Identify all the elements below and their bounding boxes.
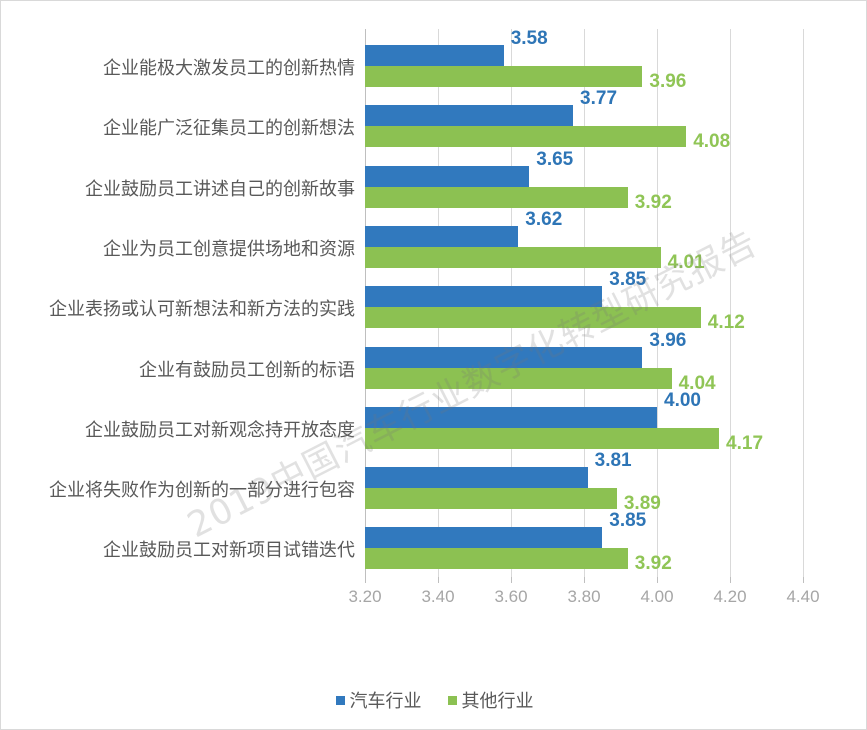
tick-mark	[803, 577, 804, 583]
bar-value-label-auto: 3.85	[609, 510, 646, 532]
bar-auto	[365, 407, 657, 428]
bar-value-label-auto: 4.00	[664, 390, 701, 412]
bar-value-label-other: 3.96	[649, 71, 686, 93]
bar-value-label-auto: 3.65	[536, 149, 573, 171]
legend-swatch-auto-icon	[336, 696, 345, 705]
chart-row: 企业将失败作为创新的一部分进行包容3.813.89	[365, 467, 803, 509]
bar-value-label-other: 4.12	[708, 312, 745, 334]
bar-other	[365, 247, 661, 268]
bar-auto	[365, 527, 602, 548]
chart-row: 企业鼓励员工对新观念持开放态度4.004.17	[365, 407, 803, 449]
tick-mark	[584, 577, 585, 583]
chart-row: 企业鼓励员工讲述自己的创新故事3.653.92	[365, 166, 803, 208]
bar-other	[365, 548, 628, 569]
bar-other	[365, 66, 642, 87]
x-tick-label: 3.20	[330, 587, 400, 607]
tick-mark	[730, 577, 731, 583]
chart-row: 企业有鼓励员工创新的标语3.964.04	[365, 347, 803, 389]
bar-auto	[365, 226, 518, 247]
bar-other	[365, 368, 672, 389]
tick-mark	[657, 577, 658, 583]
bar-auto	[365, 166, 529, 187]
bar-value-label-auto: 3.58	[511, 28, 548, 50]
plot-area: 3.203.403.603.804.004.204.40 企业能极大激发员工的创…	[365, 29, 803, 577]
x-tick-label: 4.40	[768, 587, 838, 607]
category-label: 企业为员工创意提供场地和资源	[0, 235, 365, 261]
tick-mark	[438, 577, 439, 583]
chart-row: 企业能极大激发员工的创新热情3.583.96	[365, 45, 803, 87]
tick-mark	[511, 577, 512, 583]
tick-mark	[365, 577, 366, 583]
category-label: 企业鼓励员工对新观念持开放态度	[0, 416, 365, 442]
bar-auto	[365, 286, 602, 307]
chart-legend: 汽车行业其他行业	[1, 687, 867, 713]
bar-other	[365, 488, 617, 509]
chart-container: 3.203.403.603.804.004.204.40 企业能极大激发员工的创…	[0, 0, 867, 730]
x-tick-label: 4.20	[695, 587, 765, 607]
bar-auto	[365, 45, 504, 66]
category-label: 企业有鼓励员工创新的标语	[0, 356, 365, 382]
bar-other	[365, 126, 686, 147]
category-label: 企业鼓励员工对新项目试错迭代	[0, 536, 365, 562]
bar-value-label-other: 4.17	[726, 433, 763, 455]
legend-item-other[interactable]: 其他行业	[448, 687, 534, 713]
bar-value-label-other: 4.08	[693, 131, 730, 153]
x-tick-label: 3.80	[549, 587, 619, 607]
category-label: 企业表扬或认可新想法和新方法的实践	[0, 295, 365, 321]
gridline	[803, 29, 804, 577]
bar-value-label-auto: 3.77	[580, 88, 617, 110]
category-label: 企业能广泛征集员工的创新想法	[0, 114, 365, 140]
chart-row: 企业表扬或认可新想法和新方法的实践3.854.12	[365, 286, 803, 328]
chart-row: 企业鼓励员工对新项目试错迭代3.853.92	[365, 527, 803, 569]
chart-row: 企业能广泛征集员工的创新想法3.774.08	[365, 105, 803, 147]
bar-value-label-auto: 3.85	[609, 269, 646, 291]
category-label: 企业能极大激发员工的创新热情	[0, 54, 365, 80]
chart-row: 企业为员工创意提供场地和资源3.624.01	[365, 226, 803, 268]
bar-other	[365, 187, 628, 208]
bar-other	[365, 307, 701, 328]
bar-value-label-other: 4.01	[668, 252, 705, 274]
legend-label: 汽车行业	[350, 687, 422, 713]
bar-auto	[365, 467, 588, 488]
x-tick-label: 4.00	[622, 587, 692, 607]
legend-swatch-other-icon	[448, 696, 457, 705]
x-tick-label: 3.40	[403, 587, 473, 607]
category-label: 企业将失败作为创新的一部分进行包容	[0, 476, 365, 502]
bar-auto	[365, 347, 642, 368]
category-label: 企业鼓励员工讲述自己的创新故事	[0, 175, 365, 201]
bar-value-label-other: 3.92	[635, 553, 672, 575]
legend-item-auto[interactable]: 汽车行业	[336, 687, 422, 713]
x-tick-label: 3.60	[476, 587, 546, 607]
bar-value-label-auto: 3.62	[525, 209, 562, 231]
bar-value-label-other: 3.92	[635, 192, 672, 214]
bar-value-label-auto: 3.96	[649, 330, 686, 352]
bar-other	[365, 428, 719, 449]
legend-label: 其他行业	[462, 687, 534, 713]
bar-value-label-auto: 3.81	[595, 450, 632, 472]
bar-auto	[365, 105, 573, 126]
